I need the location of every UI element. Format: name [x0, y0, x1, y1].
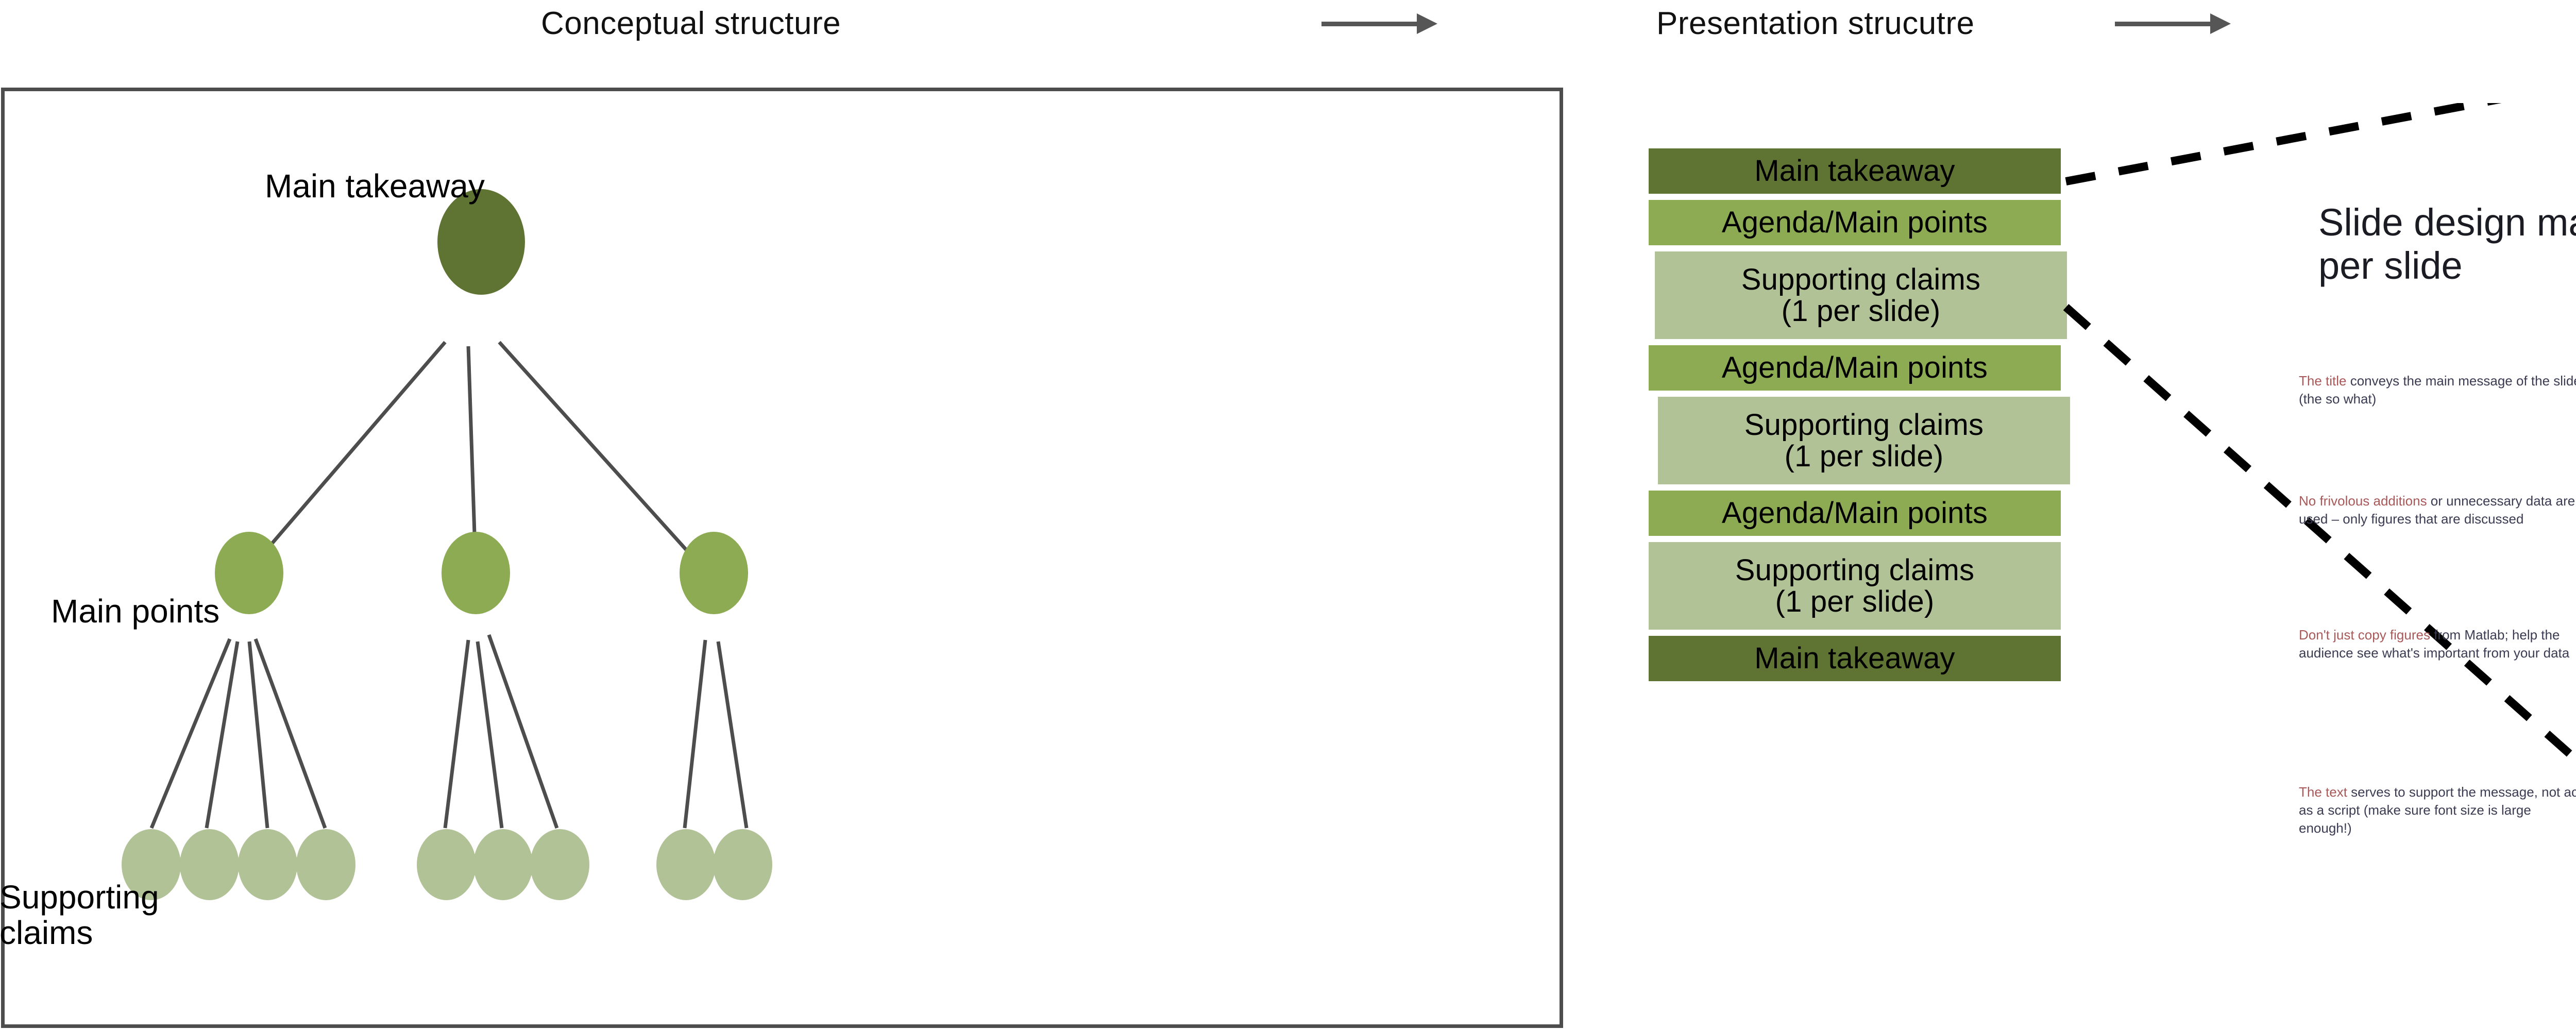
- slide-structure-panel: Slide design matters; present only one c…: [2287, 201, 2576, 907]
- tree-node-supporting-claim: [713, 829, 772, 900]
- pres-box-label-wrap: Supporting claims (1 per slide): [1741, 264, 1980, 327]
- pres-box-label: Supporting claims: [1744, 408, 1984, 442]
- tree-node-supporting-claim: [656, 829, 716, 900]
- pres-box-supporting-claims-1[interactable]: Supporting claims (1 per slide): [1655, 251, 2067, 339]
- tree-label-supporting-claims: Supporting claims: [0, 880, 149, 951]
- tree-node-supporting-claim: [296, 829, 355, 900]
- conceptual-tree-panel: Main takeaway Main points Supporting cla…: [1, 88, 1563, 1028]
- tree-node-supporting-claim: [238, 829, 297, 900]
- pres-box-sublabel: (1 per slide): [1782, 294, 1941, 328]
- pres-box-label-wrap: Supporting claims (1 per slide): [1735, 554, 1974, 618]
- pres-box-label: Supporting claims: [1735, 553, 1974, 587]
- arrow-shaft: [1321, 22, 1417, 26]
- tree-label-main-takeaway: Main takeaway: [265, 168, 485, 204]
- pres-box-main-takeaway-bottom[interactable]: Main takeaway: [1649, 636, 2061, 681]
- pres-box-label: Supporting claims: [1741, 263, 1980, 296]
- slide-canvas: Conceptual structure Presentation strucu…: [0, 0, 2576, 1029]
- pres-box-label: Main takeaway: [1754, 643, 1955, 674]
- header-presentation-structure: Presentation strucutre: [1656, 5, 1975, 42]
- pres-box-label: Agenda/Main points: [1722, 207, 1988, 238]
- dashed-line-top: [2066, 103, 2576, 181]
- tree-node-supporting-claim: [473, 829, 533, 900]
- arrow-head: [1417, 13, 1437, 34]
- tree-node-main-point-3: [680, 532, 748, 614]
- pres-box-agenda-3[interactable]: Agenda/Main points: [1649, 491, 2061, 536]
- flow-arrow-icon-1: [1321, 13, 1437, 34]
- pres-box-main-takeaway-top[interactable]: Main takeaway: [1649, 148, 2061, 194]
- pres-box-supporting-claims-2[interactable]: Supporting claims (1 per slide): [1658, 397, 2070, 484]
- pres-box-agenda-1[interactable]: Agenda/Main points: [1649, 200, 2061, 245]
- tree-node-main-point-2: [442, 532, 510, 614]
- pres-box-agenda-2[interactable]: Agenda/Main points: [1649, 345, 2061, 391]
- pres-box-sublabel: (1 per slide): [1785, 440, 1944, 473]
- pres-box-label-wrap: Supporting claims (1 per slide): [1744, 409, 1984, 473]
- tree-label-main-points: Main points: [51, 594, 219, 629]
- pres-box-label: Agenda/Main points: [1722, 497, 1988, 529]
- pres-box-supporting-claims-3[interactable]: Supporting claims (1 per slide): [1649, 542, 2061, 630]
- tree-node-main-takeaway: [437, 189, 525, 295]
- pres-box-sublabel: (1 per slide): [1775, 585, 1935, 618]
- tree-node-main-point-1: [215, 532, 283, 614]
- tree-node-supporting-claim: [180, 829, 239, 900]
- tree-node-supporting-claim: [417, 829, 476, 900]
- arrow-shaft: [2115, 22, 2211, 26]
- header-conceptual-structure: Conceptual structure: [541, 5, 841, 42]
- annotation-leader-arrows: [2287, 201, 2576, 907]
- tree-node-supporting-claim: [530, 829, 589, 900]
- pres-box-label: Agenda/Main points: [1722, 352, 1988, 383]
- flow-arrow-icon-2: [2115, 13, 2231, 34]
- arrow-head: [2210, 13, 2231, 34]
- presentation-structure-stack: Main takeaway Agenda/Main points Support…: [1649, 148, 2076, 687]
- pres-box-label: Main takeaway: [1754, 155, 1955, 187]
